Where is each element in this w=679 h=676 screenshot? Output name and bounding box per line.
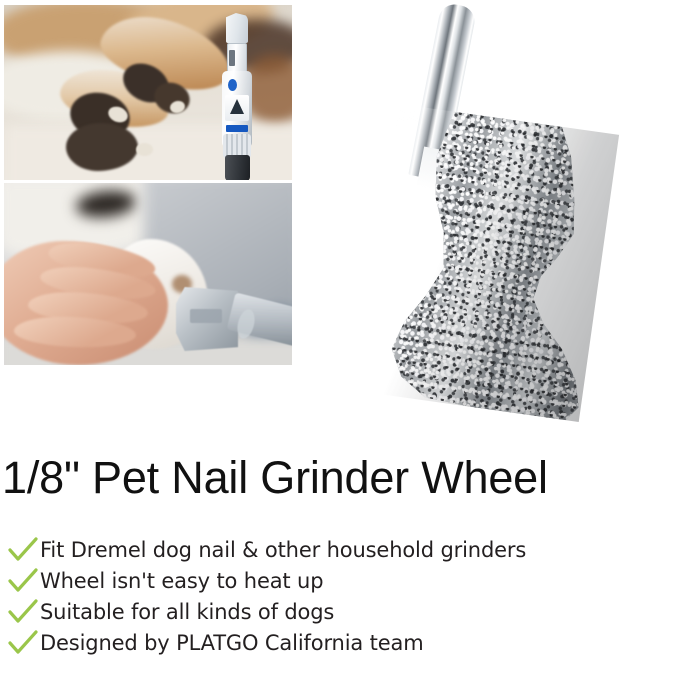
tool-accent-stripe [226, 125, 248, 132]
feature-label: Designed by PLATGO California team [40, 629, 424, 657]
tool-brand-label [225, 95, 249, 121]
cordless-nail-grinder-tool [215, 13, 259, 180]
tool-port-slot [229, 50, 235, 66]
tool-power-button [228, 79, 237, 91]
feature-label: Wheel isn't easy to heat up [40, 567, 323, 595]
product-title: 1/8" Pet Nail Grinder Wheel [2, 452, 679, 504]
list-item: Suitable for all kinds of dogs [6, 596, 666, 627]
grinder-head-notch [190, 309, 222, 323]
photo-dog-paws-with-grinder [4, 5, 292, 180]
check-icon [6, 567, 40, 595]
diamond-grinding-bit [300, 0, 679, 430]
check-icon [6, 536, 40, 564]
photo-hand-grinding-dog-nail [4, 183, 292, 365]
feature-list: Fit Dremel dog nail & other household gr… [6, 534, 666, 658]
feature-label: Fit Dremel dog nail & other household gr… [40, 536, 526, 564]
tool-base-cap [225, 155, 250, 180]
feature-label: Suitable for all kinds of dogs [40, 598, 334, 626]
tool-clear-cap [226, 13, 248, 43]
gray-grinder-tool [176, 279, 292, 365]
tool-logo-triangle-icon [230, 99, 244, 114]
list-item: Designed by PLATGO California team [6, 627, 666, 658]
dog-claw [136, 143, 153, 156]
check-icon [6, 629, 40, 657]
bit-grinding-head [359, 104, 619, 422]
check-icon [6, 598, 40, 626]
bit-shading-overlay [359, 104, 619, 422]
product-marketing-image: 1/8" Pet Nail Grinder Wheel Fit Dremel d… [0, 0, 679, 676]
list-item: Wheel isn't easy to heat up [6, 565, 666, 596]
list-item: Fit Dremel dog nail & other household gr… [6, 534, 666, 565]
